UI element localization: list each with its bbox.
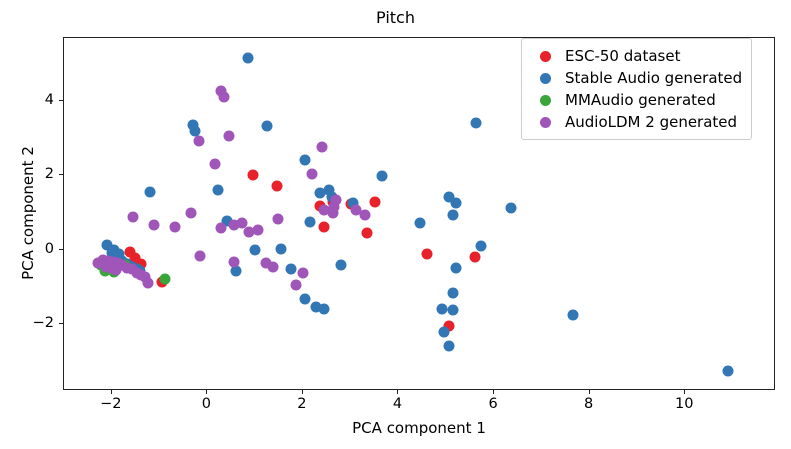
data-point (250, 244, 261, 255)
legend-marker-icon (540, 73, 551, 84)
legend-label: MMAudio generated (565, 91, 716, 109)
x-ticklabel: −2 (100, 396, 121, 412)
data-point (145, 187, 156, 198)
x-tick (206, 390, 207, 394)
data-point (448, 209, 459, 220)
x-ticklabel: 10 (675, 396, 693, 412)
x-ticklabel: 0 (202, 396, 211, 412)
x-tick (397, 390, 398, 394)
data-point (723, 365, 734, 376)
data-point (319, 221, 330, 232)
x-tick (684, 390, 685, 394)
data-point (362, 228, 373, 239)
data-point (360, 209, 371, 220)
data-point (475, 241, 486, 252)
data-point (271, 180, 282, 191)
data-point (415, 218, 426, 229)
x-axis-label: PCA component 1 (63, 419, 775, 437)
data-point (448, 304, 459, 315)
data-point (369, 197, 380, 208)
data-point (231, 266, 242, 277)
data-point (190, 125, 201, 136)
data-point (300, 154, 311, 165)
y-ticklabel: 0 (45, 241, 54, 257)
legend-marker-icon (540, 51, 551, 62)
data-point (219, 92, 230, 103)
data-point (212, 184, 223, 195)
data-point (169, 221, 180, 232)
y-ticklabel: 4 (45, 92, 54, 108)
x-ticklabel: 8 (584, 396, 593, 412)
data-point (469, 252, 480, 263)
data-point (252, 225, 263, 236)
x-tick (493, 390, 494, 394)
data-point (376, 171, 387, 182)
legend-box: ESC-50 datasetStable Audio generatedMMAu… (521, 38, 752, 140)
plot-title: Pitch (0, 8, 791, 27)
y-tick (59, 323, 63, 324)
data-point (128, 212, 139, 223)
legend-label: AudioLDM 2 generated (565, 113, 737, 131)
y-ticklabel: 2 (45, 166, 54, 182)
legend-label: Stable Audio generated (565, 69, 742, 87)
legend-item[interactable]: AudioLDM 2 generated (530, 111, 742, 133)
data-point (317, 141, 328, 152)
data-point (193, 136, 204, 147)
data-point (505, 203, 516, 214)
data-point (242, 53, 253, 64)
data-point (209, 158, 220, 169)
data-point (300, 293, 311, 304)
data-point (142, 278, 153, 289)
data-point (307, 168, 318, 179)
data-point (470, 117, 481, 128)
legend-item[interactable]: Stable Audio generated (530, 67, 742, 89)
data-point (436, 303, 447, 314)
data-point (228, 256, 239, 267)
scatter-plot-figure: Pitch −20246810 −2024 PCA component 1 PC… (0, 0, 791, 449)
data-point (290, 280, 301, 291)
data-point (443, 341, 454, 352)
data-point (422, 249, 433, 260)
x-ticklabel: 6 (488, 396, 497, 412)
data-point (148, 219, 159, 230)
data-point (215, 222, 226, 233)
data-point (327, 208, 338, 219)
data-point (450, 263, 461, 274)
legend-item[interactable]: MMAudio generated (530, 89, 742, 111)
data-point (273, 214, 284, 225)
x-tick (111, 390, 112, 394)
data-point (185, 207, 196, 218)
y-tick (59, 249, 63, 250)
data-point (262, 121, 273, 132)
x-tick (589, 390, 590, 394)
data-point (268, 261, 279, 272)
data-point (567, 309, 578, 320)
x-ticklabel: 2 (297, 396, 306, 412)
data-point (110, 265, 121, 276)
legend-label: ESC-50 dataset (565, 47, 680, 65)
data-point (223, 131, 234, 142)
legend-item[interactable]: ESC-50 dataset (530, 45, 742, 67)
y-tick (59, 100, 63, 101)
data-point (276, 244, 287, 255)
data-point (195, 251, 206, 262)
data-point (450, 198, 461, 209)
data-point (319, 304, 330, 315)
data-point (160, 273, 171, 284)
data-point (438, 326, 449, 337)
y-axis-label: PCA component 2 (19, 93, 37, 333)
data-point (285, 264, 296, 275)
data-point (448, 287, 459, 298)
data-point (336, 260, 347, 271)
x-tick (302, 390, 303, 394)
data-point (305, 216, 316, 227)
data-point (247, 169, 258, 180)
data-point (297, 267, 308, 278)
legend-marker-icon (540, 95, 551, 106)
legend-marker-icon (540, 117, 551, 128)
y-tick (59, 174, 63, 175)
x-ticklabel: 4 (393, 396, 402, 412)
